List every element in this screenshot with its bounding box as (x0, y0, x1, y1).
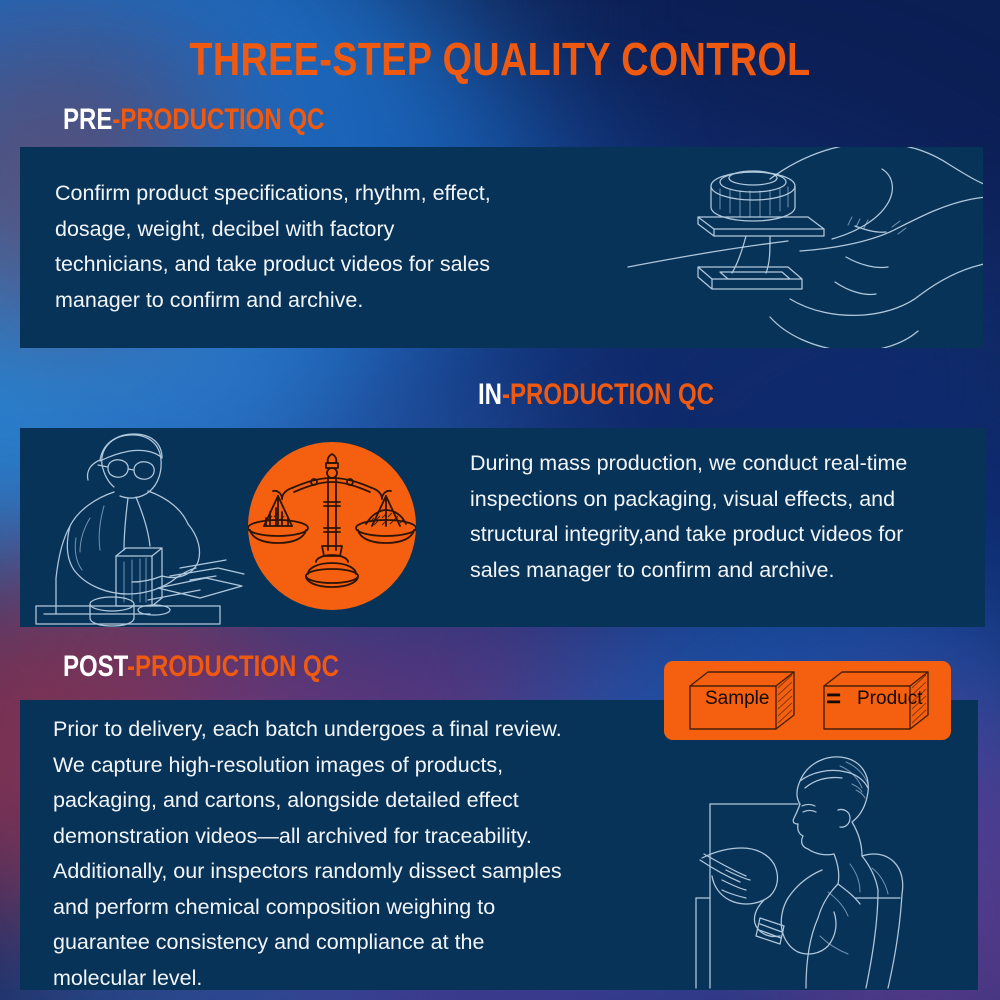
badge-label-equals: = (826, 683, 841, 714)
badge-label-sample: Sample (705, 688, 769, 710)
infographic-page: THREE-STEP QUALITY CONTROL PRE-PRODUCTIO… (0, 0, 1000, 1000)
body-text-in-production: During mass production, we conduct real-… (470, 446, 985, 588)
worker-inspecting-sketch (30, 428, 270, 627)
balance-scale-badge (248, 442, 416, 610)
panel-in-production: During mass production, we conduct real-… (20, 428, 985, 627)
hand-holding-product-sketch (620, 147, 983, 348)
heading-white-part: PRE (63, 103, 112, 136)
balance-scale-icon (248, 442, 416, 610)
section-heading-in-production: IN-PRODUCTION QC (478, 378, 714, 412)
body-text-post-production: Prior to delivery, each batch undergoes … (53, 712, 683, 990)
inspector-with-clipboard-sketch (660, 748, 978, 990)
heading-white-part: POST (63, 650, 127, 683)
badge-label-product: Product (857, 688, 922, 710)
body-text-pre-production: Confirm product specifications, rhythm, … (55, 176, 615, 318)
panel-post-production: Prior to delivery, each batch undergoes … (20, 700, 978, 990)
sample-equals-product-badge: Sample = Product (664, 661, 951, 740)
page-title: THREE-STEP QUALITY CONTROL (90, 32, 910, 86)
section-heading-post-production: POST-PRODUCTION QC (63, 650, 339, 684)
panel-pre-production: Confirm product specifications, rhythm, … (20, 147, 983, 348)
heading-orange-part: -PRODUCTION QC (502, 378, 714, 411)
heading-white-part: IN (478, 378, 502, 411)
heading-orange-part: -PRODUCTION QC (112, 103, 324, 136)
section-heading-pre-production: PRE-PRODUCTION QC (63, 103, 324, 137)
heading-orange-part: -PRODUCTION QC (127, 650, 339, 683)
